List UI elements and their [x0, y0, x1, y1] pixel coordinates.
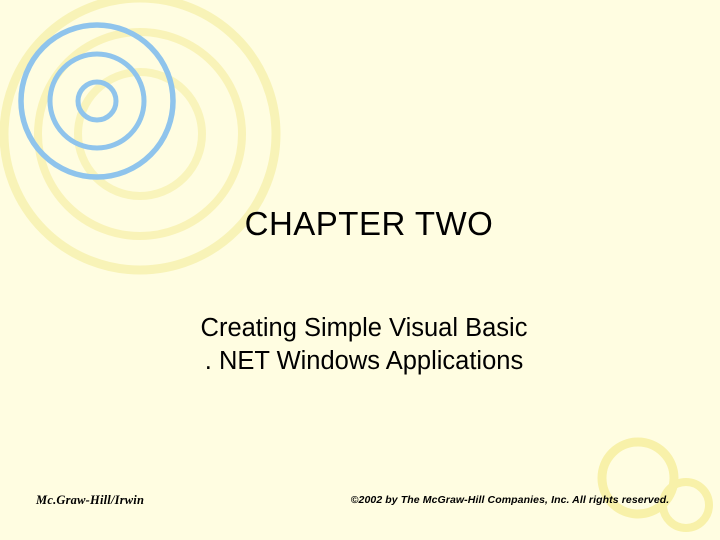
subtitle-block: Creating Simple Visual Basic . NET Windo… — [0, 312, 720, 378]
blue-ring-inner — [78, 82, 116, 120]
concentric-rings-group — [21, 25, 173, 177]
slide-decoration-layer — [0, 0, 720, 540]
subtitle-line-2: . NET Windows Applications — [0, 345, 720, 378]
footer-publisher-brand: Mc.Graw-Hill/Irwin — [36, 493, 144, 508]
bottom-right-rings-group — [602, 442, 709, 528]
blue-ring-outer — [21, 25, 173, 177]
subtitle-line-1: Creating Simple Visual Basic — [0, 312, 720, 345]
title-slide: CHAPTER TWO Creating Simple Visual Basic… — [0, 0, 720, 540]
title-block: CHAPTER TWO — [0, 204, 720, 244]
faint-yellow-ring-inner — [78, 72, 202, 196]
page-title: CHAPTER TWO — [0, 204, 720, 244]
blue-ring-middle — [50, 54, 144, 148]
footer-copyright-notice: ©2002 by The McGraw-Hill Companies, Inc.… — [320, 494, 700, 506]
